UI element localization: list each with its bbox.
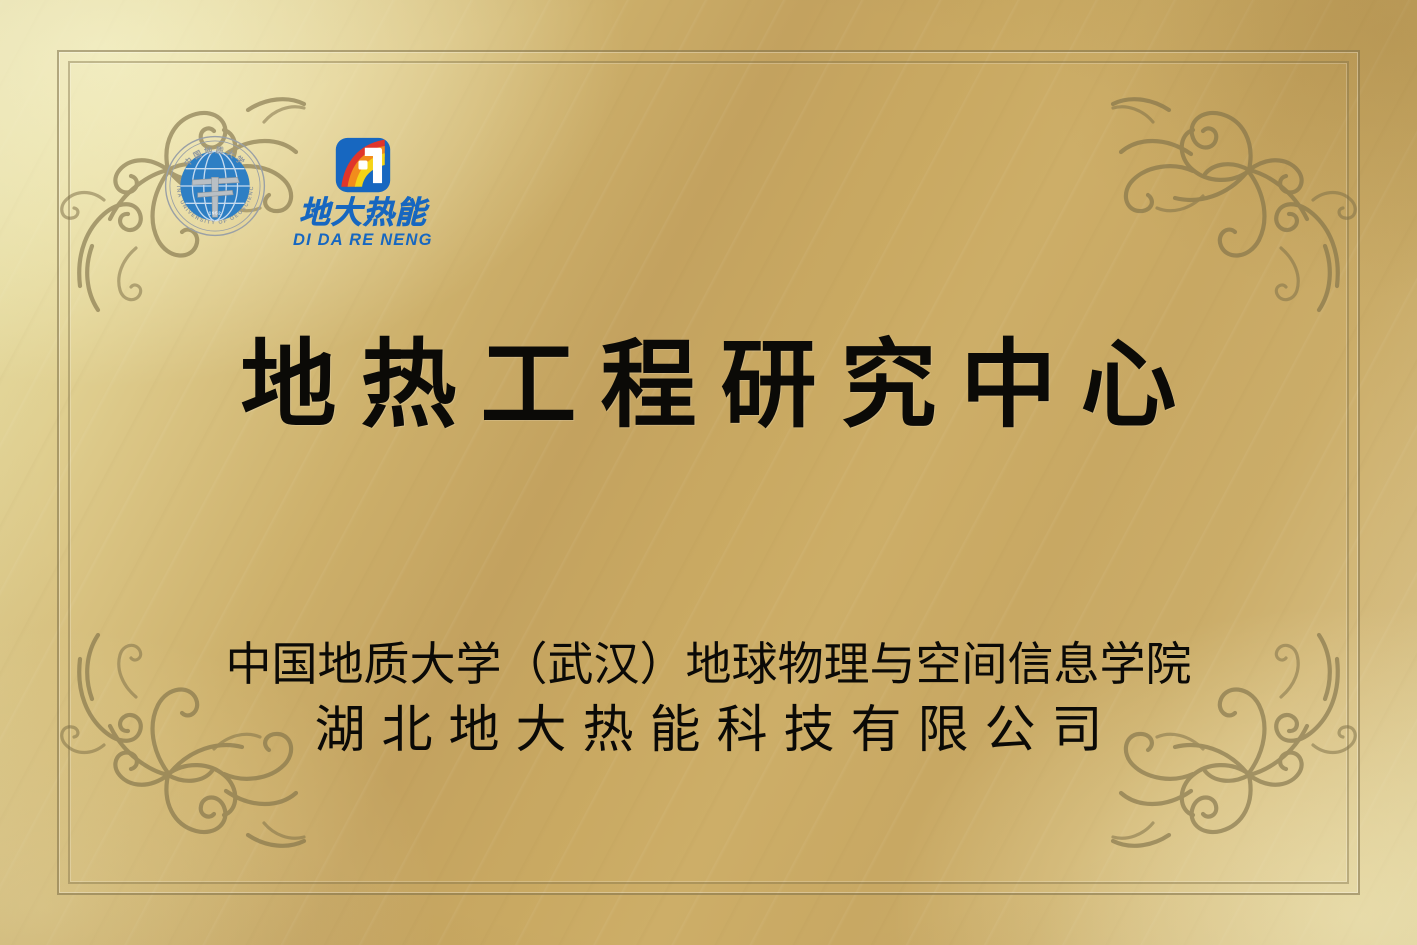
svg-text:1952: 1952 [209,211,222,217]
plaque-board: 中国地质大学 CHINA UNIVERSITY OF GEOSCIENCES 1… [0,0,1417,945]
institution-names: 中国地质大学（武汉）地球物理与空间信息学院 湖北地大热能科技有限公司 [0,636,1417,762]
logo-row: 中国地质大学 CHINA UNIVERSITY OF GEOSCIENCES 1… [163,134,433,249]
company-name-cn: 地大热能 [299,197,427,228]
company-logo-mark [334,136,392,194]
company-name-pinyin: DI DA RE NENG [293,232,433,249]
institution-line-1: 中国地质大学（武汉）地球物理与空间信息学院 [0,636,1417,694]
plaque-title: 地热工程研究中心 [0,334,1417,438]
company-logo: 地大热能 DI DA RE NENG [293,136,433,249]
institution-line-2: 湖北地大热能科技有限公司 [0,700,1417,762]
university-emblem: 中国地质大学 CHINA UNIVERSITY OF GEOSCIENCES 1… [163,134,267,238]
